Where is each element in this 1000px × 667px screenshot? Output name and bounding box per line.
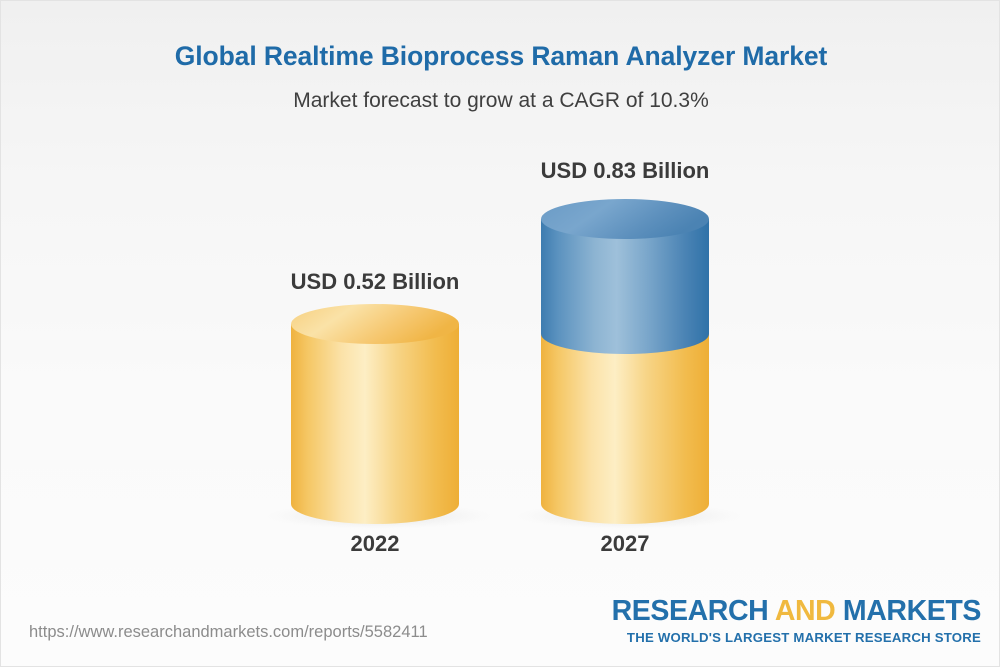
brand-name: RESEARCH AND MARKETS bbox=[612, 597, 981, 627]
brand-tagline: THE WORLD'S LARGEST MARKET RESEARCH STOR… bbox=[612, 630, 981, 645]
bar-value-label-2027: USD 0.83 Billion bbox=[541, 158, 710, 184]
brand-logo: RESEARCH AND MARKETS THE WORLD'S LARGEST… bbox=[612, 597, 981, 645]
bar-cylinder-2022 bbox=[291, 304, 459, 524]
category-label-2027: 2027 bbox=[601, 531, 650, 557]
bar-value-label-2022: USD 0.52 Billion bbox=[291, 269, 460, 295]
category-label-2022: 2022 bbox=[351, 531, 400, 557]
plot-area bbox=[1, 1, 1000, 601]
source-url[interactable]: https://www.researchandmarkets.com/repor… bbox=[29, 623, 428, 642]
brand-name-part2: MARKETS bbox=[835, 595, 981, 627]
brand-name-part1: RESEARCH bbox=[612, 595, 775, 627]
chart-canvas: Global Realtime Bioprocess Raman Analyze… bbox=[0, 0, 1000, 667]
cylinder-bars-svg bbox=[1, 1, 1000, 601]
brand-name-and: AND bbox=[775, 595, 836, 627]
bar-cylinder-2027 bbox=[541, 199, 709, 524]
